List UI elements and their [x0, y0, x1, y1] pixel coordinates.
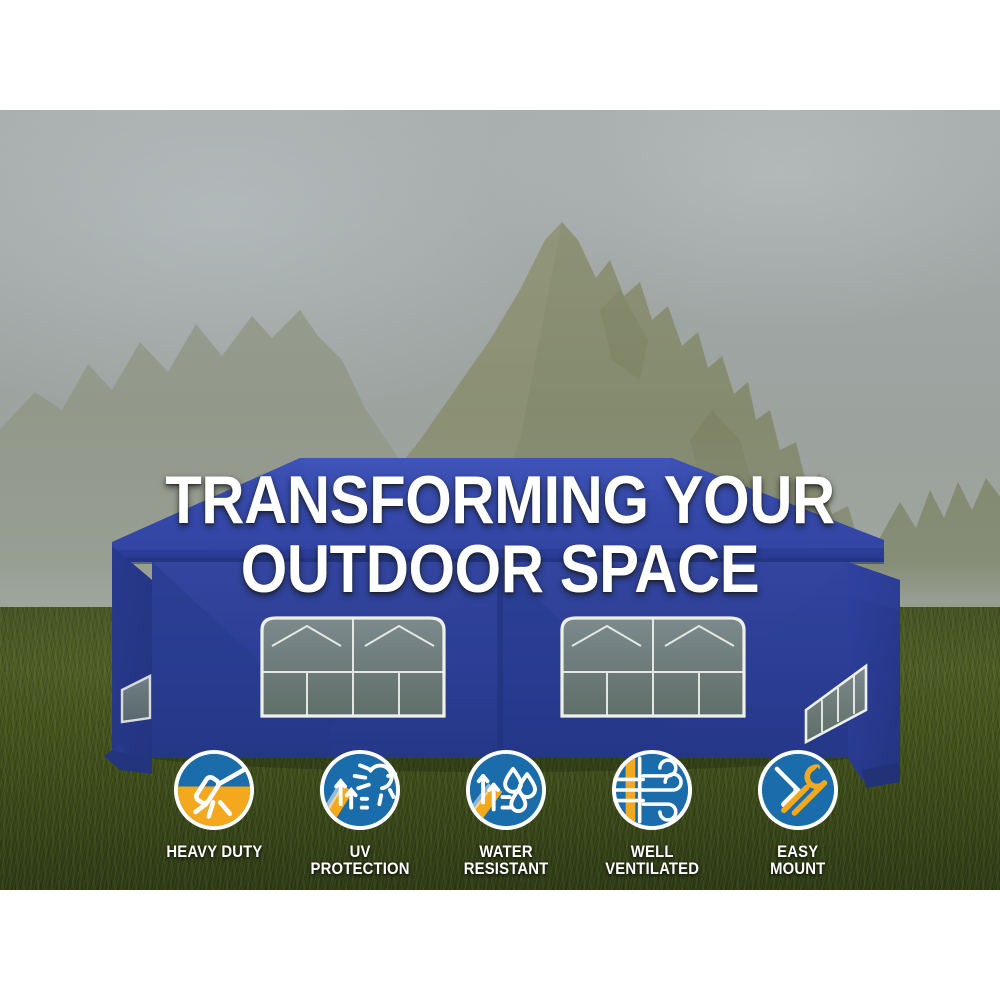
feature-uv-protection: UV PROTECTION [296, 746, 424, 879]
feature-label: HEAVY DUTY [166, 844, 262, 861]
feature-label: EASY MOUNT [770, 844, 825, 879]
feature-label: UV PROTECTION [310, 844, 409, 879]
feature-badges: HEAVY DUTY [150, 746, 862, 890]
feature-water-resistant: WATER RESISTANT [442, 746, 570, 879]
photo-plate: TRANSFORMING YOUR OUTDOOR SPACE [0, 110, 1000, 890]
wind-swirl-icon [608, 746, 696, 834]
feature-easy-mount: EASY MOUNT [734, 746, 862, 879]
feature-well-ventilated: WELL VENTILATED [588, 746, 716, 879]
product-marketing-image: TRANSFORMING YOUR OUTDOOR SPACE [0, 0, 1000, 1000]
feature-heavy-duty: HEAVY DUTY [150, 746, 278, 861]
wrench-screwdriver-icon [754, 746, 842, 834]
sun-uv-icon [316, 746, 404, 834]
feature-label: WELL VENTILATED [605, 844, 699, 879]
hammer-icon [170, 746, 258, 834]
water-droplet-icon [462, 746, 550, 834]
feature-label: WATER RESISTANT [464, 844, 549, 879]
